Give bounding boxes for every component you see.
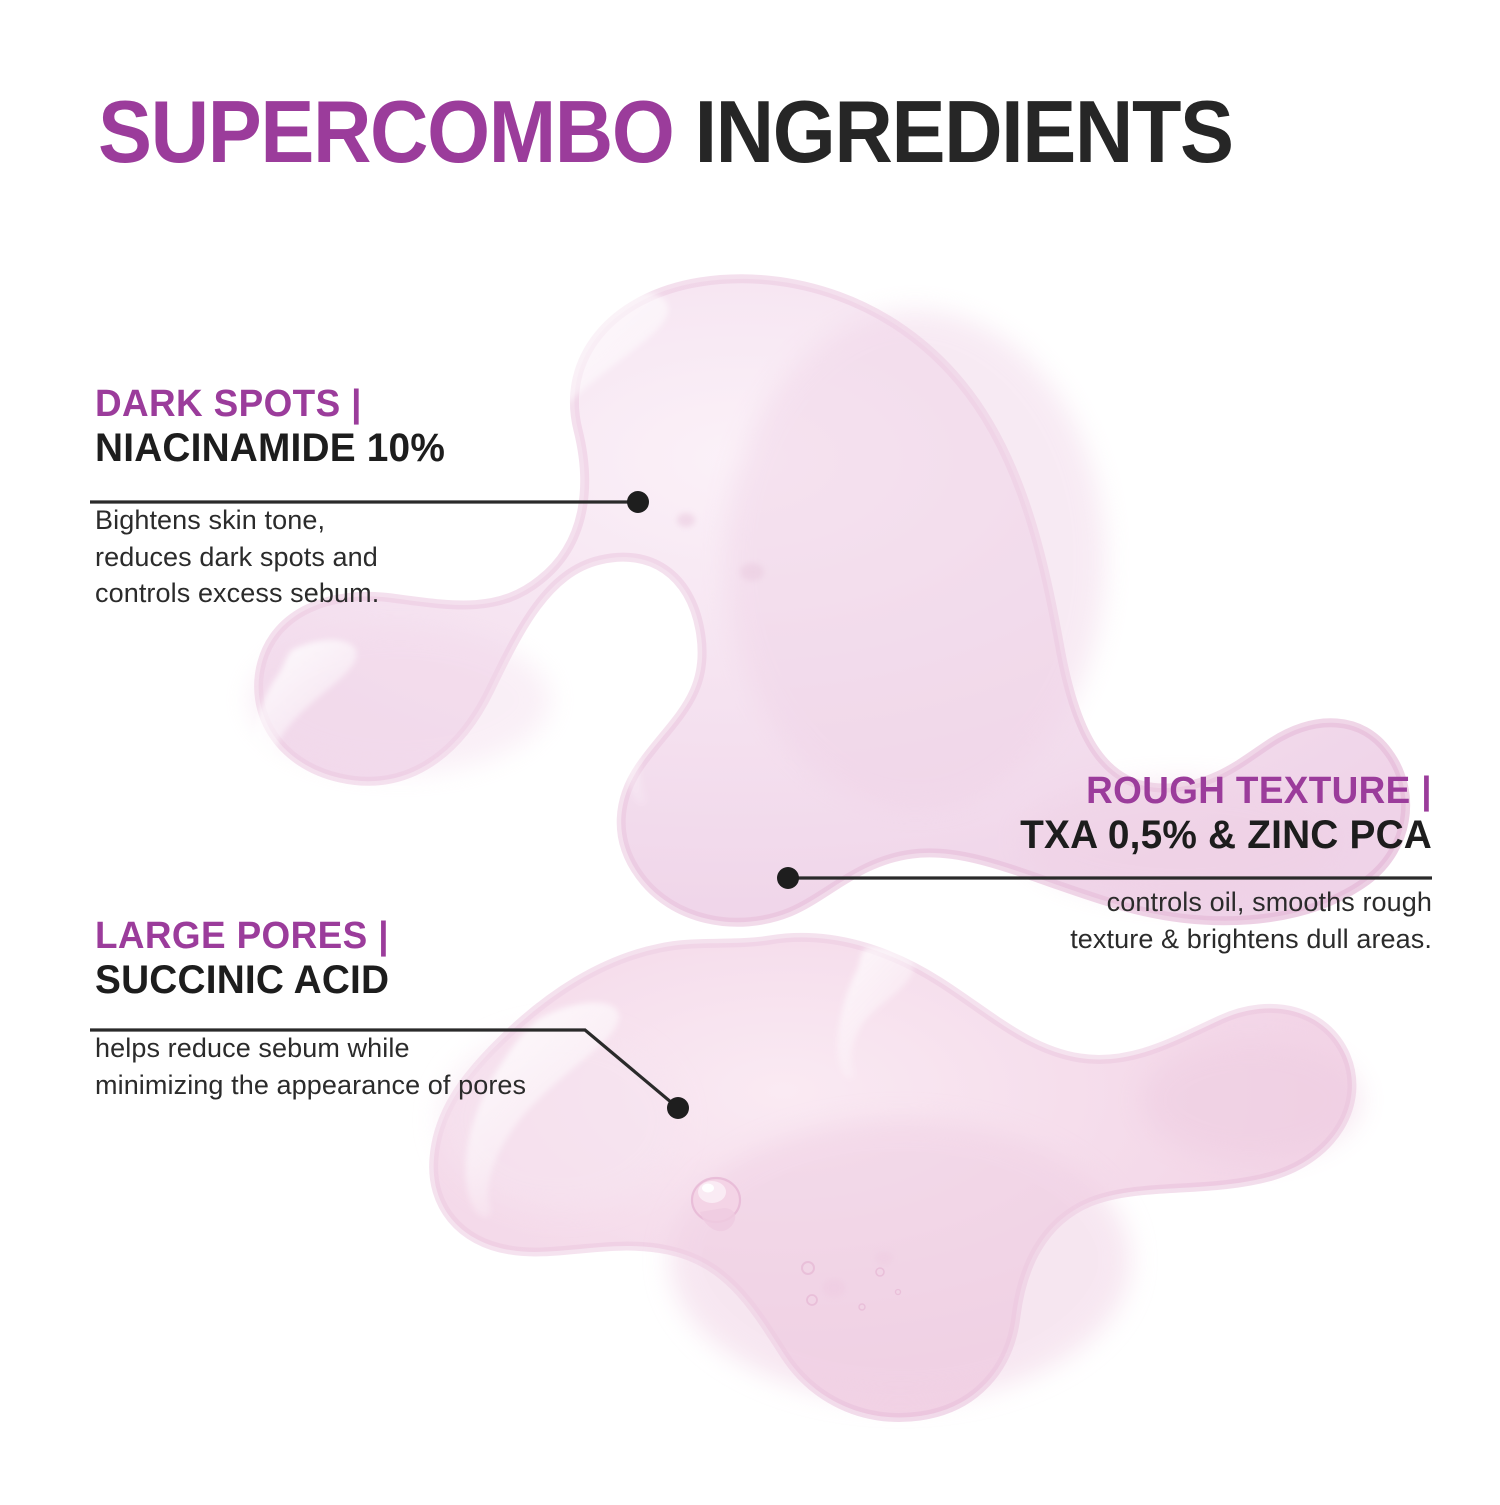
callout-eyebrow-dark-spots: DARK SPOTS | — [95, 383, 638, 426]
callout-chemical-rough-texture: TXA 0,5% & ZINC PCA — [887, 813, 1432, 858]
callout-eyebrow-large-pores: LARGE PORES | — [95, 915, 638, 958]
callout-body-large-pores: helps reduce sebum while minimizing the … — [95, 1030, 655, 1102]
callout-chemical-large-pores: SUCCINIC ACID — [95, 958, 638, 1003]
callout-rough-texture: ROUGH TEXTURE | TXA 0,5% & ZINC PCA cont… — [870, 770, 1432, 957]
leader-lines — [0, 0, 1500, 1500]
callout-eyebrow-rough-texture: ROUGH TEXTURE | — [887, 770, 1432, 813]
callout-body-dark-spots: Bightens skin tone, reduces dark spots a… — [95, 502, 655, 611]
callout-chemical-dark-spots: NIACINAMIDE 10% — [95, 426, 638, 471]
callout-large-pores: LARGE PORES | SUCCINIC ACID helps reduce… — [95, 915, 655, 1103]
callout-dark-spots: DARK SPOTS | NIACINAMIDE 10% Bightens sk… — [95, 383, 655, 611]
infographic-canvas: SUPERCOMBO INGREDIENTS — [0, 0, 1500, 1500]
callout-body-rough-texture: controls oil, smooths rough texture & br… — [870, 884, 1432, 956]
